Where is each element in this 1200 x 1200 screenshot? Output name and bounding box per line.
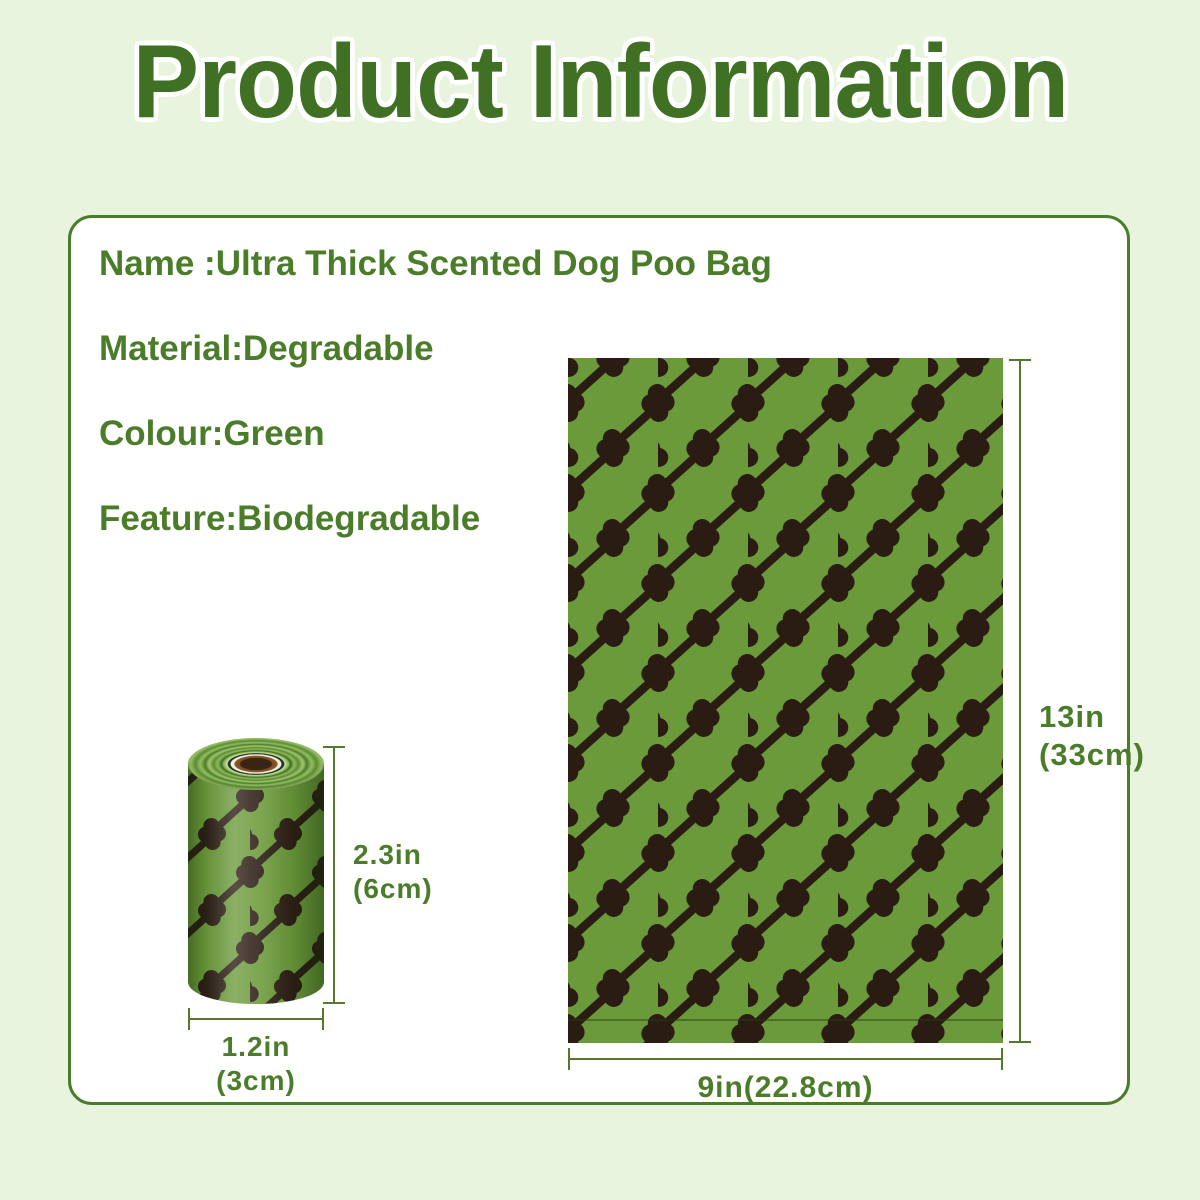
page-title: Product Information — [132, 26, 1068, 138]
bag-height-imperial: 13in — [1039, 698, 1145, 736]
roll-spiral-top — [188, 738, 324, 790]
roll-width-metric: (3cm) — [168, 1064, 344, 1098]
roll-width-dimension-line — [188, 1018, 324, 1020]
bag-height-dimension-cap-bottom — [1009, 1041, 1031, 1043]
product-information-infographic: { "page": { "title": "Product Informatio… — [0, 0, 1200, 1200]
roll-width-imperial: 1.2in — [168, 1030, 344, 1064]
roll-width-dimension-cap-right — [322, 1008, 324, 1030]
roll-width-label: 1.2in (3cm) — [168, 1030, 344, 1098]
roll-height-dimension-cap-top — [323, 746, 345, 748]
bag-width-dimension-cap-right — [1001, 1048, 1003, 1070]
roll-height-metric: (6cm) — [353, 872, 433, 906]
roll-width-dimension-cap-left — [188, 1008, 190, 1030]
bag-width-dimension-cap-left — [568, 1048, 570, 1070]
roll-height-imperial: 2.3in — [353, 838, 433, 872]
bag-height-metric: (33cm) — [1039, 736, 1145, 774]
roll-height-dimension-line — [333, 746, 335, 1004]
bag-width-label: 9in(22.8cm) — [568, 1070, 1003, 1107]
dog-poo-bag-flat-image — [568, 358, 1003, 1043]
bag-height-label: 13in (33cm) — [1039, 698, 1145, 774]
roll-height-label: 2.3in (6cm) — [353, 838, 433, 906]
roll-height-dimension-cap-bottom — [323, 1002, 345, 1004]
spec-row-name: Name :Ultra Thick Scented Dog Poo Bag — [99, 244, 929, 284]
bag-height-dimension-cap-top — [1009, 359, 1031, 361]
bag-width-dimension-line — [568, 1058, 1003, 1060]
roll-shading — [188, 764, 324, 1004]
roll-body — [188, 764, 324, 1004]
page-title-container: Product Information — [0, 26, 1200, 138]
bag-bottom-seam — [568, 1019, 1003, 1021]
bag-height-dimension-line — [1019, 359, 1021, 1043]
dog-poo-bag-roll-image — [188, 738, 324, 1004]
info-panel: Name :Ultra Thick Scented Dog Poo Bag Ma… — [68, 215, 1130, 1105]
